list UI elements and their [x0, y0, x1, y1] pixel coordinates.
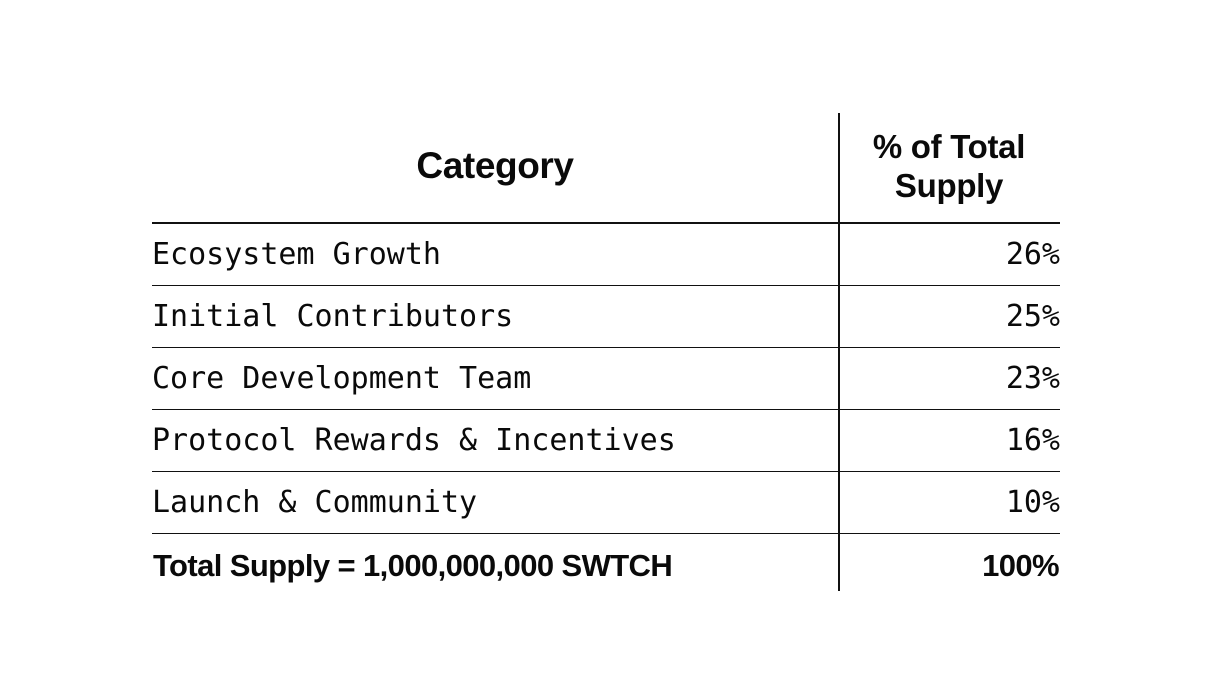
table-row: Core Development Team 23% [152, 348, 1060, 410]
table-body: Ecosystem Growth 26% Initial Contributor… [152, 223, 1060, 598]
table-row: Initial Contributors 25% [152, 286, 1060, 348]
cell-percent: 23% [838, 348, 1060, 410]
cell-category: Initial Contributors [152, 286, 838, 348]
cell-category: Core Development Team [152, 348, 838, 410]
table-row: Launch & Community 10% [152, 472, 1060, 534]
column-header-category: Category [152, 113, 838, 223]
column-header-percent-line-2: Supply [838, 167, 1060, 205]
column-header-percent-of-total-supply: % of Total Supply [838, 113, 1060, 223]
cell-percent: 25% [838, 286, 1060, 348]
table-row: Protocol Rewards & Incentives 16% [152, 410, 1060, 472]
cell-category: Protocol Rewards & Incentives [152, 410, 838, 472]
table-header-row: Category % of Total Supply [152, 113, 1060, 223]
cell-percent: 26% [838, 223, 1060, 286]
cell-percent: 16% [838, 410, 1060, 472]
token-allocation-table-wrapper: Category % of Total Supply Ecosystem Gro… [152, 113, 1060, 591]
column-header-percent-line-1: % of Total [838, 128, 1060, 166]
cell-total-percent: 100% [838, 534, 1060, 599]
table-row: Ecosystem Growth 26% [152, 223, 1060, 286]
cell-category: Launch & Community [152, 472, 838, 534]
table-header: Category % of Total Supply [152, 113, 1060, 223]
cell-total-label: Total Supply = 1,000,000,000 SWTCH [152, 534, 838, 599]
token-allocation-table: Category % of Total Supply Ecosystem Gro… [152, 113, 1060, 598]
table-total-row: Total Supply = 1,000,000,000 SWTCH 100% [152, 534, 1060, 599]
column-divider [838, 113, 840, 591]
token-allocation-page: Category % of Total Supply Ecosystem Gro… [0, 0, 1208, 684]
cell-category: Ecosystem Growth [152, 223, 838, 286]
cell-percent: 10% [838, 472, 1060, 534]
